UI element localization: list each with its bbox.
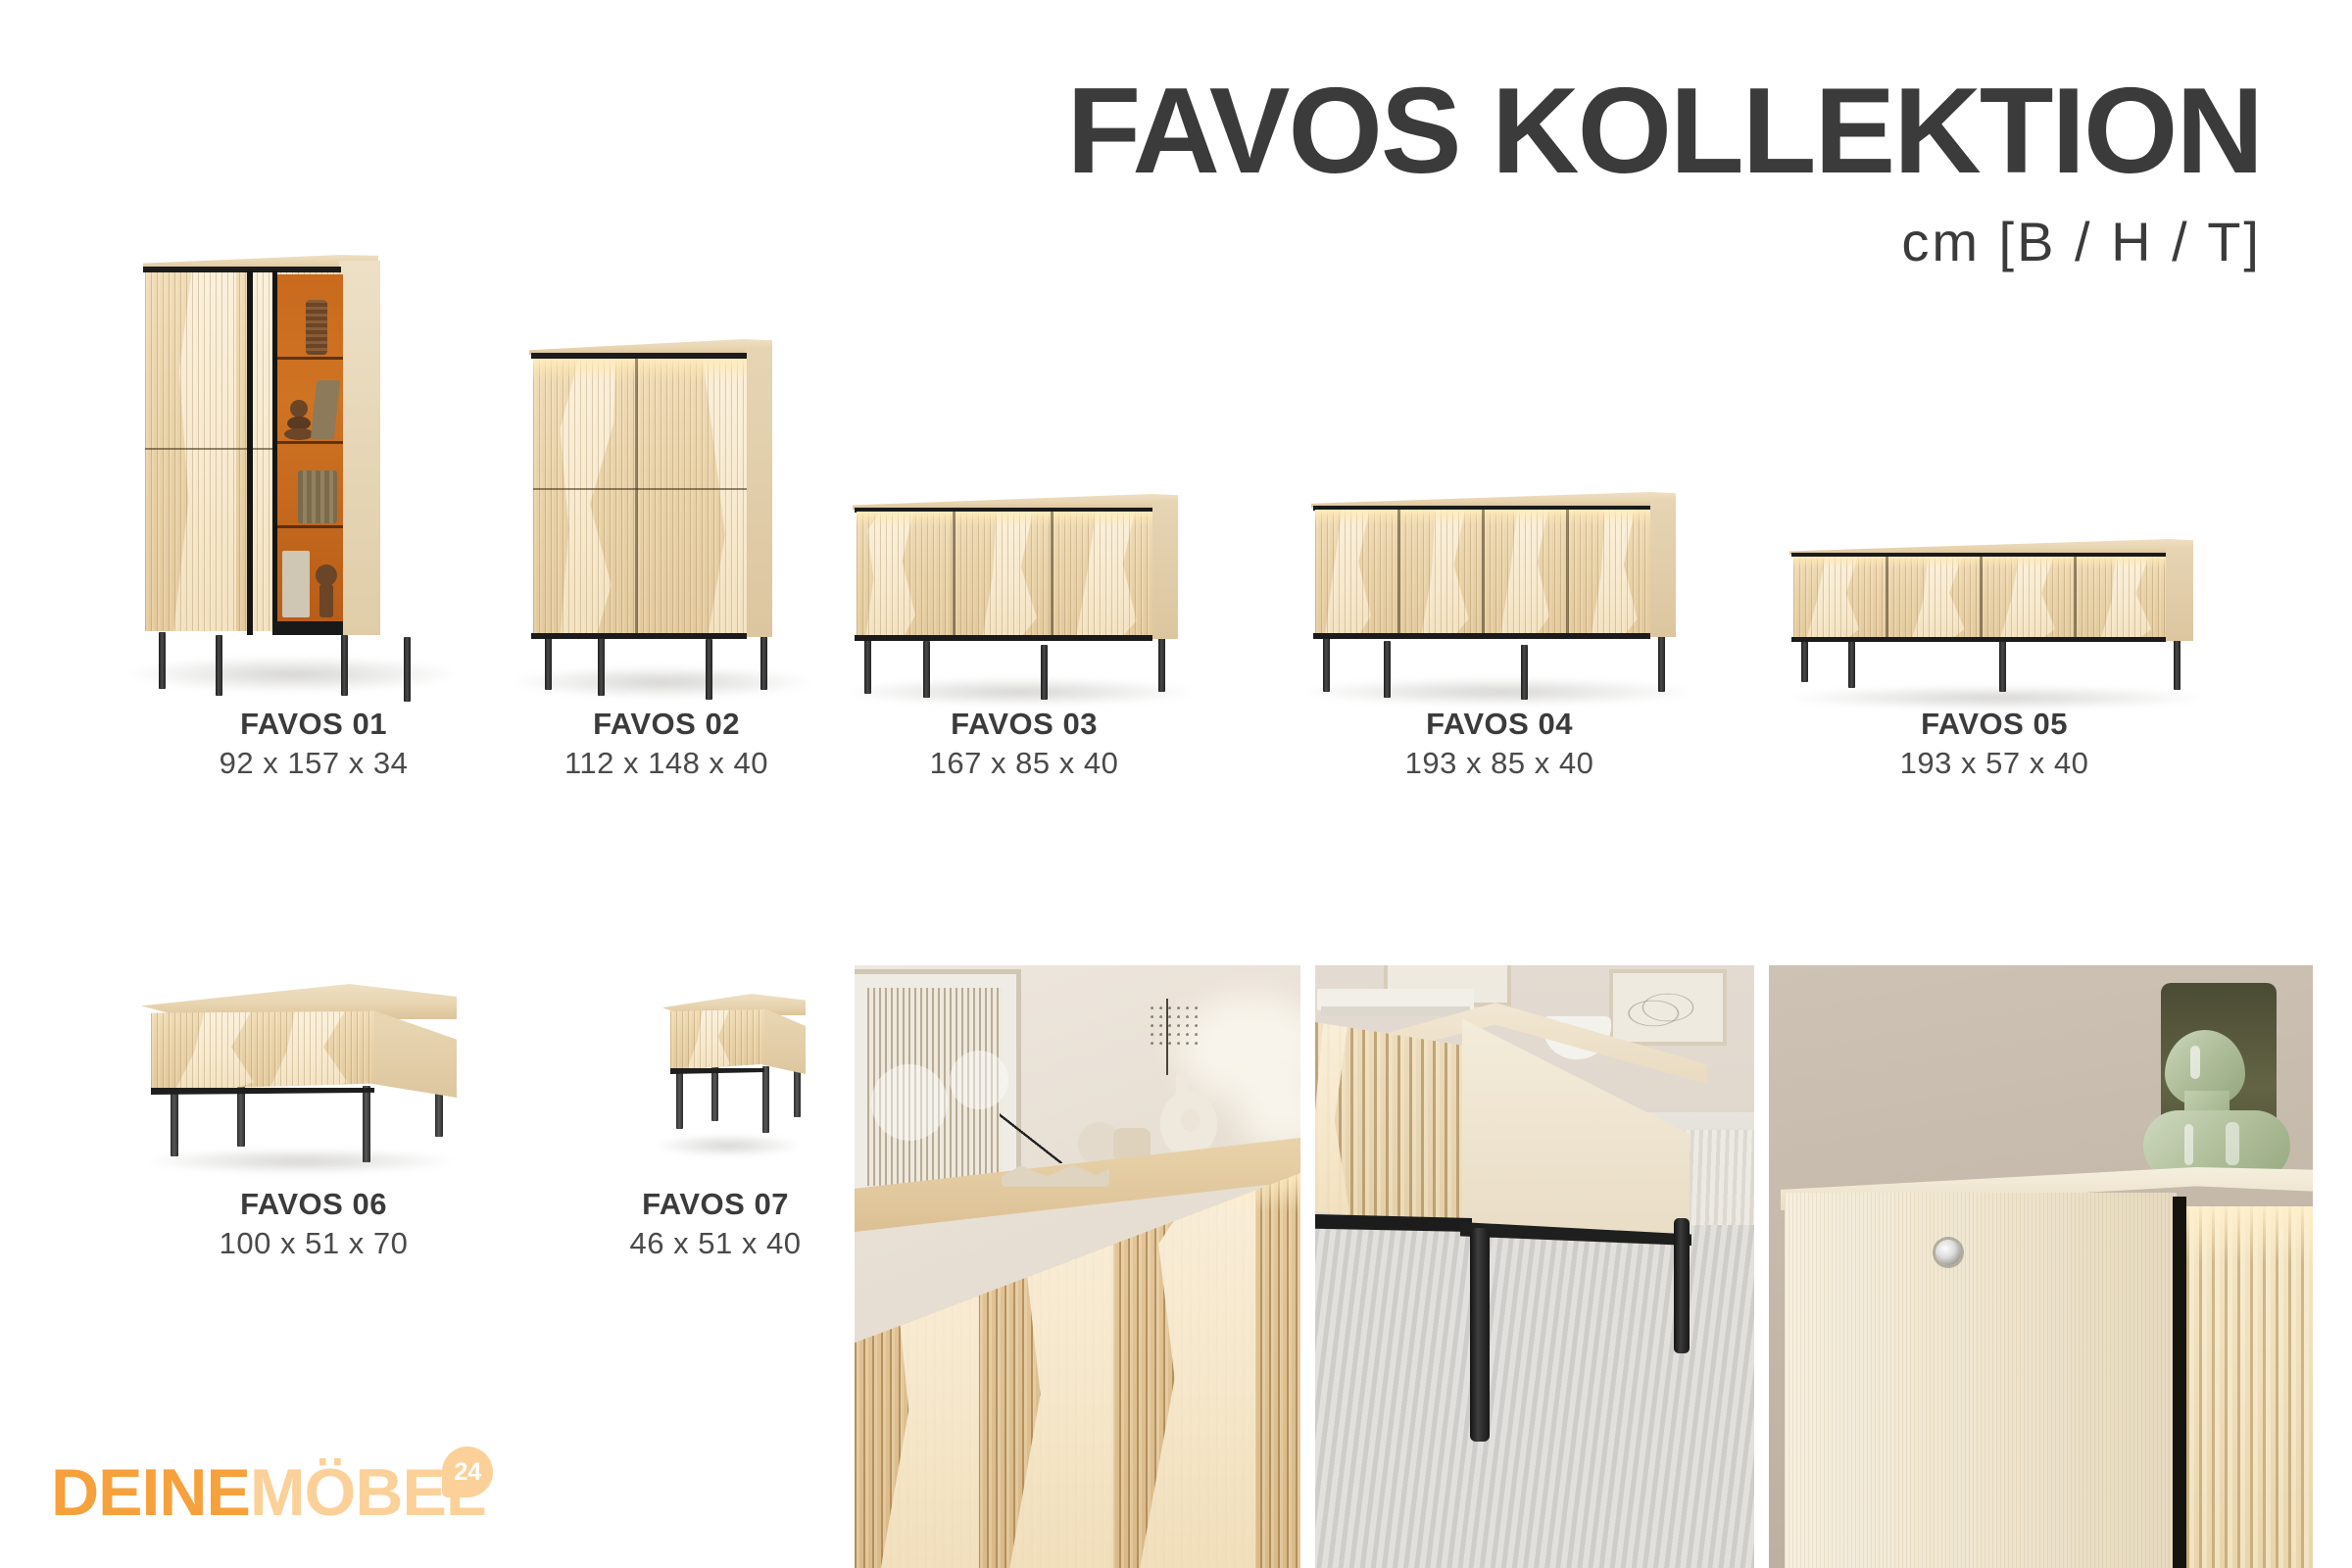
header: FAVOS KOLLEKTION cm [B / H / T] (0, 71, 2352, 273)
logo-badge-24: 24 (442, 1446, 493, 1497)
product-name: FAVOS 06 (118, 1186, 510, 1224)
photo2-ribbed-front (1315, 1022, 1472, 1228)
product-image-favos-06 (118, 941, 510, 1186)
cabinet-door-panel (151, 1011, 374, 1090)
photo1-framed-art (855, 969, 1021, 1204)
logo-badge-label: 24 (454, 1460, 481, 1485)
product-favos-06[interactable]: FAVOS 06 100 x 51 x 70 (118, 941, 510, 1263)
photo3-cabinet-front (1785, 1193, 2177, 1568)
product-dimensions: 193 x 85 x 40 (1274, 744, 1725, 783)
caption-favos-03: FAVOS 03 167 x 85 x 40 (813, 706, 1235, 783)
poster-canvas: FAVOS KOLLEKTION cm [B / H / T] (0, 0, 2352, 1568)
cabinet-door-panel (857, 512, 955, 639)
product-dimensions: 100 x 51 x 70 (118, 1224, 510, 1263)
product-name: FAVOS 02 (461, 706, 872, 744)
photo2-cabinet-leg (1470, 1228, 1490, 1442)
product-favos-05[interactable]: FAVOS 05 193 x 57 x 40 (1754, 245, 2234, 783)
product-image-favos-03 (813, 245, 1235, 706)
product-favos-03[interactable]: FAVOS 03 167 x 85 x 40 (813, 245, 1235, 783)
product-favos-07[interactable]: FAVOS 07 46 x 51 x 40 (549, 941, 882, 1263)
cabinet-door-panel (1793, 557, 1887, 641)
product-dimensions: 112 x 148 x 40 (461, 744, 872, 783)
product-name: FAVOS 04 (1274, 706, 1725, 744)
product-image-favos-04 (1274, 245, 1725, 706)
product-image-favos-05 (1754, 245, 2234, 706)
product-dimensions: 193 x 57 x 40 (1754, 744, 2234, 783)
photo3-ribbed-side (2186, 1206, 2313, 1568)
caption-favos-05: FAVOS 05 193 x 57 x 40 (1754, 706, 2234, 783)
product-image-favos-07 (549, 941, 882, 1186)
cabinet-door-panel (670, 1009, 764, 1070)
product-dimensions: 46 x 51 x 40 (549, 1224, 882, 1263)
lifestyle-photo-2[interactable] (1315, 965, 1754, 1568)
caption-favos-02: FAVOS 02 112 x 148 x 40 (461, 706, 872, 783)
product-favos-02[interactable]: FAVOS 02 112 x 148 x 40 (461, 245, 872, 783)
brand-logo[interactable]: DEINEMÖBEL 24 (51, 1450, 485, 1535)
caption-favos-06: FAVOS 06 100 x 51 x 70 (118, 1186, 510, 1263)
caption-favos-04: FAVOS 04 193 x 85 x 40 (1274, 706, 1725, 783)
cabinet-door-panel (145, 272, 251, 631)
lifestyle-photo-3[interactable] (1769, 965, 2313, 1568)
lifestyle-photo-1[interactable] (855, 965, 1300, 1568)
product-dimensions: 167 x 85 x 40 (813, 744, 1235, 783)
caption-favos-07: FAVOS 07 46 x 51 x 40 (549, 1186, 882, 1263)
photo3-round-knob[interactable] (1935, 1240, 1961, 1265)
product-name: FAVOS 05 (1754, 706, 2234, 744)
photo2-framed-art-right (1609, 969, 1727, 1046)
vitrine-glass-bay (276, 274, 343, 629)
product-image-favos-02 (461, 245, 872, 706)
cabinet-door-panel (1315, 510, 1399, 637)
page-title: FAVOS KOLLEKTION (0, 71, 2262, 192)
logo-text-primary: DEINE (51, 1455, 250, 1530)
product-name: FAVOS 07 (549, 1186, 882, 1224)
product-favos-04[interactable]: FAVOS 04 193 x 85 x 40 (1274, 245, 1725, 783)
product-name: FAVOS 03 (813, 706, 1235, 744)
cabinet-door-panel (533, 359, 637, 637)
